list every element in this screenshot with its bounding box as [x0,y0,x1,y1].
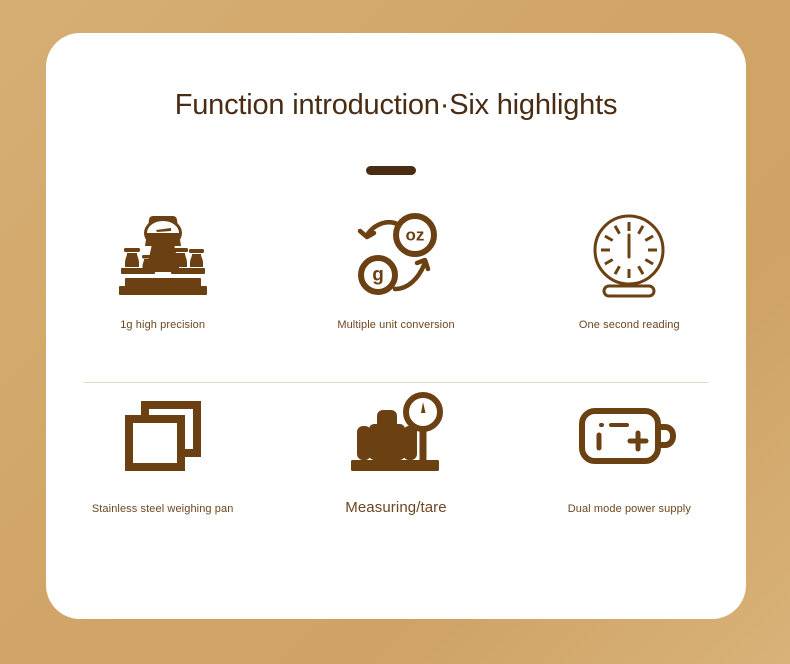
features-row-top: 1g high precision [46,201,746,383]
feature-label: One second reading [579,319,680,331]
feature-label: 1g high precision [120,319,205,331]
feature-label: Multiple unit conversion [337,319,454,331]
page-root: Function introduction·Six highlights [0,0,790,664]
feature-label: Dual mode power supply [568,503,691,515]
title-accent-bar [366,166,416,175]
feature-label: Stainless steel weighing pan [92,503,234,515]
features-grid: 1g high precision [46,201,746,563]
features-row-bottom: Stainless steel weighing pan [46,383,746,563]
feature-item-unit-conversion: oz g Multiple unit conversion [279,201,512,383]
unit-to-label: oz [406,226,425,245]
unit-conversion-g-oz-icon: oz g [349,201,443,313]
feature-label: Measuring/tare [345,499,446,516]
page-title: Function introduction·Six highlights [46,89,746,122]
highlights-card: Function introduction·Six highlights [46,33,746,619]
luggage-platform-scale-icon [347,383,445,489]
clock-dial-icon [586,201,672,313]
feature-item-power-supply: Dual mode power supply [513,383,746,563]
feature-item-one-second-reading: One second reading [513,201,746,383]
balance-scale-weights-icon [111,201,215,313]
feature-item-precision: 1g high precision [46,201,279,383]
stacked-square-pans-icon [119,383,207,489]
feature-item-weighing-pan: Stainless steel weighing pan [46,383,279,563]
battery-icon [577,383,681,489]
feature-item-measuring-tare: Measuring/tare [279,383,512,563]
unit-from-label: g [372,265,384,286]
